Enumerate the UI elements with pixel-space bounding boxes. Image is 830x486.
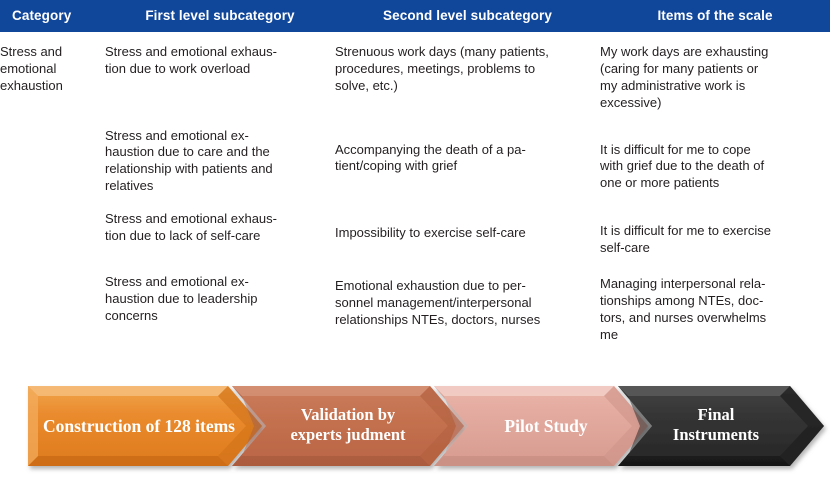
table-row: Stress and emotional ex- haustion due to… — [0, 263, 830, 352]
table-row: Stress and emotional ex- haustion due to… — [0, 118, 830, 202]
cell-line: relationships NTEs, doctors, nurses — [335, 312, 600, 329]
flow-step-4-label-line2: Instruments — [673, 425, 760, 444]
cell-line: Stress and emotional exhaus- — [105, 44, 335, 61]
category-line-1: Stress and — [0, 44, 105, 61]
table-body: Stress and emotional exhaustion Stress a… — [0, 32, 830, 351]
category-line-3: exhaustion — [0, 78, 105, 95]
column-header-first-level: First level subcategory — [105, 0, 335, 32]
cell-line: relatives — [105, 178, 335, 195]
cell-line: My work days are exhausting — [600, 44, 830, 61]
flow-step-2-label-line1: Validation by — [301, 405, 396, 424]
cell-line: tionships among NTEs, doc- — [600, 293, 830, 310]
item-cell: My work days are exhausting (caring for … — [600, 32, 830, 118]
cell-line: Strenuous work days (many patients, — [335, 44, 600, 61]
cell-line: (caring for many patients or — [600, 61, 830, 78]
table-header: Category First level subcategory Second … — [0, 0, 830, 32]
cell-line: tion due to lack of self-care — [105, 228, 335, 245]
item-cell: It is difficult for me to exercise self-… — [600, 201, 830, 263]
table-header-row: Category First level subcategory Second … — [0, 0, 830, 32]
first-level-cell: Stress and emotional ex- haustion due to… — [105, 263, 335, 352]
cell-line: Stress and emotional ex- — [105, 128, 335, 145]
flow-step-2-label-line2: experts judment — [290, 425, 406, 444]
cell-line: procedures, meetings, problems to — [335, 61, 600, 78]
cell-line: excessive) — [600, 95, 830, 112]
cell-line: relationship with patients and — [105, 161, 335, 178]
cell-line: It is difficult for me to cope — [600, 142, 830, 159]
table-row: Stress and emotional exhaus- tion due to… — [0, 201, 830, 263]
flow-step-4-label-line1: Final — [698, 405, 735, 424]
item-cell: Managing interpersonal rela- tionships a… — [600, 263, 830, 352]
cell-line: my administrative work is — [600, 78, 830, 95]
second-level-cell: Strenuous work days (many patients, proc… — [335, 32, 600, 118]
scale-table: Category First level subcategory Second … — [0, 0, 830, 351]
cell-line: self-care — [600, 240, 830, 257]
cell-line: sonnel management/interpersonal — [335, 295, 600, 312]
cell-line: tion due to work overload — [105, 61, 335, 78]
process-flow-diagram: Construction of 128 items Validation by … — [0, 378, 830, 478]
category-cell: Stress and emotional exhaustion — [0, 32, 105, 351]
cell-line: with grief due to the death of — [600, 158, 830, 175]
first-level-cell: Stress and emotional exhaus- tion due to… — [105, 201, 335, 263]
cell-line: Stress and emotional exhaus- — [105, 211, 335, 228]
cell-line: me — [600, 327, 830, 344]
second-level-cell: Accompanying the death of a pa- tient/co… — [335, 118, 600, 202]
category-line-2: emotional — [0, 61, 105, 78]
cell-line: Impossibility to exercise self-care — [335, 225, 600, 242]
first-level-cell: Stress and emotional exhaus- tion due to… — [105, 32, 335, 118]
flow-step-3-label: Pilot Study — [504, 416, 587, 436]
cell-line: haustion due to care and the — [105, 144, 335, 161]
column-header-items: Items of the scale — [600, 0, 830, 32]
cell-line: Emotional exhaustion due to per- — [335, 278, 600, 295]
cell-line: It is difficult for me to exercise — [600, 223, 830, 240]
column-header-category: Category — [0, 0, 105, 32]
cell-line: Accompanying the death of a pa- — [335, 142, 600, 159]
scale-table-container: Category First level subcategory Second … — [0, 0, 830, 351]
second-level-cell: Impossibility to exercise self-care — [335, 201, 600, 263]
cell-line: haustion due to leadership — [105, 291, 335, 308]
flow-step-1-label: Construction of 128 items — [43, 416, 235, 436]
cell-line: Managing interpersonal rela- — [600, 276, 830, 293]
second-level-cell: Emotional exhaustion due to per- sonnel … — [335, 263, 600, 352]
column-header-second-level: Second level subcategory — [335, 0, 600, 32]
first-level-cell: Stress and emotional ex- haustion due to… — [105, 118, 335, 202]
cell-line: Stress and emotional ex- — [105, 274, 335, 291]
cell-line: one or more patients — [600, 175, 830, 192]
cell-line: tient/coping with grief — [335, 158, 600, 175]
cell-line: concerns — [105, 308, 335, 325]
cell-line: tors, and nurses overwhelms — [600, 310, 830, 327]
table-row: Stress and emotional exhaustion Stress a… — [0, 32, 830, 118]
item-cell: It is difficult for me to cope with grie… — [600, 118, 830, 202]
cell-line: solve, etc.) — [335, 78, 600, 95]
